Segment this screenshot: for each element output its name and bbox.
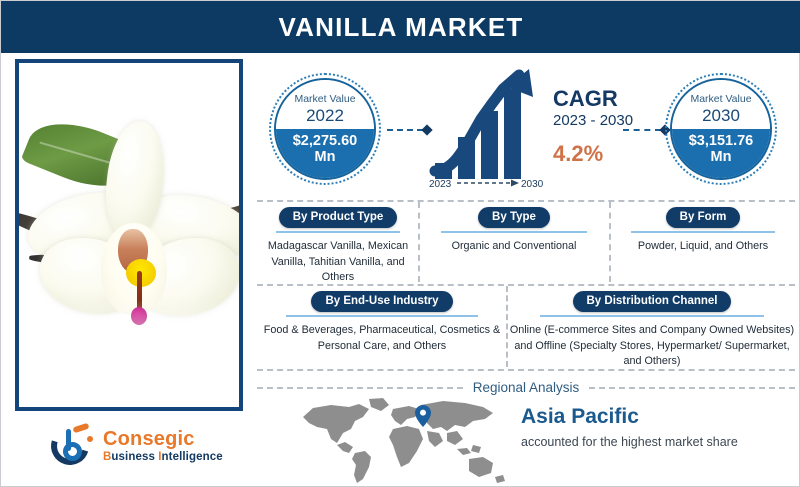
regional-dash-left [257,387,463,389]
location-pin-icon [415,405,431,427]
connector-dashed-line [387,129,423,131]
connector-left [387,125,431,134]
logo-company-name: Consegic [103,429,223,451]
segment-items: Organic and Conventional [421,239,607,255]
segment-items: Online (E-commerce Sites and Company Own… [509,323,795,370]
segment-underline [540,315,763,317]
regional-summary: Asia Pacific accounted for the highest m… [521,405,781,451]
leading-region-description: accounted for the highest market share [521,433,781,451]
market-value-2022-circle: Market Value 2022 $2,275.60 Mn [269,73,381,185]
vanilla-flower-illustration [19,63,239,407]
logo-wordmark: Consegic Business Intelligence [103,429,223,463]
segment-by-type: By Type Organic and Conventional [421,207,607,255]
cagr-chart-svg: CAGR 2023 2030 [429,67,547,189]
market-value-2022-bottom: $2,275.60 Mn [276,129,374,178]
market-value-2030-amount: $3,151.76 [689,133,754,149]
segment-title-badge: By Form [666,207,741,228]
segment-divider-vertical-1 [418,202,420,282]
cagr-heading: CAGR [553,87,673,110]
connector-right [623,125,669,134]
market-value-2022-amount: $2,275.60 [293,133,358,149]
consegic-logo-icon [49,423,95,469]
leading-region-name: Asia Pacific [521,405,781,428]
market-value-2030-bottom: $3,151.76 Mn [672,129,770,178]
segment-by-form: By Form Powder, Liquid, and Others [611,207,795,255]
market-value-2022-label: Market Value [294,93,355,105]
segment-items: Powder, Liquid, and Others [611,239,795,255]
logo-tagline: Business Intelligence [103,451,223,463]
market-value-2022-unit: Mn [315,149,336,165]
image-fade-overlay [19,299,239,407]
world-map-svg [297,395,513,487]
location-pin-svg [415,405,431,427]
segment-items: Madagascar Vanilla, Mexican Vanilla, Tah… [259,239,417,286]
segment-underline [276,231,399,233]
market-value-2022-inner: Market Value 2022 $2,275.60 Mn [274,78,376,180]
cagr-axis-start: 2023 [429,179,452,189]
world-map-icon [297,395,513,487]
segment-title-badge: By Product Type [279,207,398,228]
segment-by-end-use-industry: By End-Use Industry Food & Beverages, Ph… [259,291,505,354]
brand-logo: Consegic Business Intelligence [49,423,223,469]
logo-b-bowl [63,442,82,461]
regional-analysis-title: Regional Analysis [473,380,580,395]
segment-divider-vertical-3 [506,286,508,367]
market-value-2030-circle: Market Value 2030 $3,151.76 Mn [665,73,777,185]
segment-underline [286,315,478,317]
segment-by-product-type: By Product Type Madagascar Vanilla, Mexi… [259,207,417,286]
cagr-percentage: 4.2% [553,141,673,167]
segment-by-distribution-channel: By Distribution Channel Online (E-commer… [509,291,795,370]
market-value-2030-top: Market Value 2030 [672,80,770,129]
market-value-2030-unit: Mn [711,149,732,165]
segment-title-badge: By End-Use Industry [311,291,452,312]
regional-dash-right [589,387,795,389]
segment-underline [441,231,586,233]
market-value-2030-year: 2030 [702,106,740,126]
segment-title-badge: By Type [478,207,550,228]
connector-dashed-line [623,129,661,131]
segment-items: Food & Beverages, Pharmaceutical, Cosmet… [259,323,505,354]
segment-divider-top [257,200,795,202]
header-bar: VANILLA MARKET [1,1,800,53]
infographic-root: VANILLA MARKET [0,0,800,487]
market-value-2030-label: Market Value [690,93,751,105]
segment-underline [631,231,775,233]
segment-title-badge: By Distribution Channel [573,291,732,312]
logo-orange-dot [87,436,93,442]
product-image-frame [15,59,243,411]
market-value-2022-top: Market Value 2022 [276,80,374,129]
market-value-2022-year: 2022 [306,106,344,126]
cagr-growth-chart-icon: CAGR 2023 2030 [429,67,547,189]
market-value-2030-inner: Market Value 2030 $3,151.76 Mn [670,78,772,180]
page-title: VANILLA MARKET [279,12,524,43]
cagr-axis-end: 2030 [521,179,544,189]
regional-analysis-header: Regional Analysis [257,380,795,395]
